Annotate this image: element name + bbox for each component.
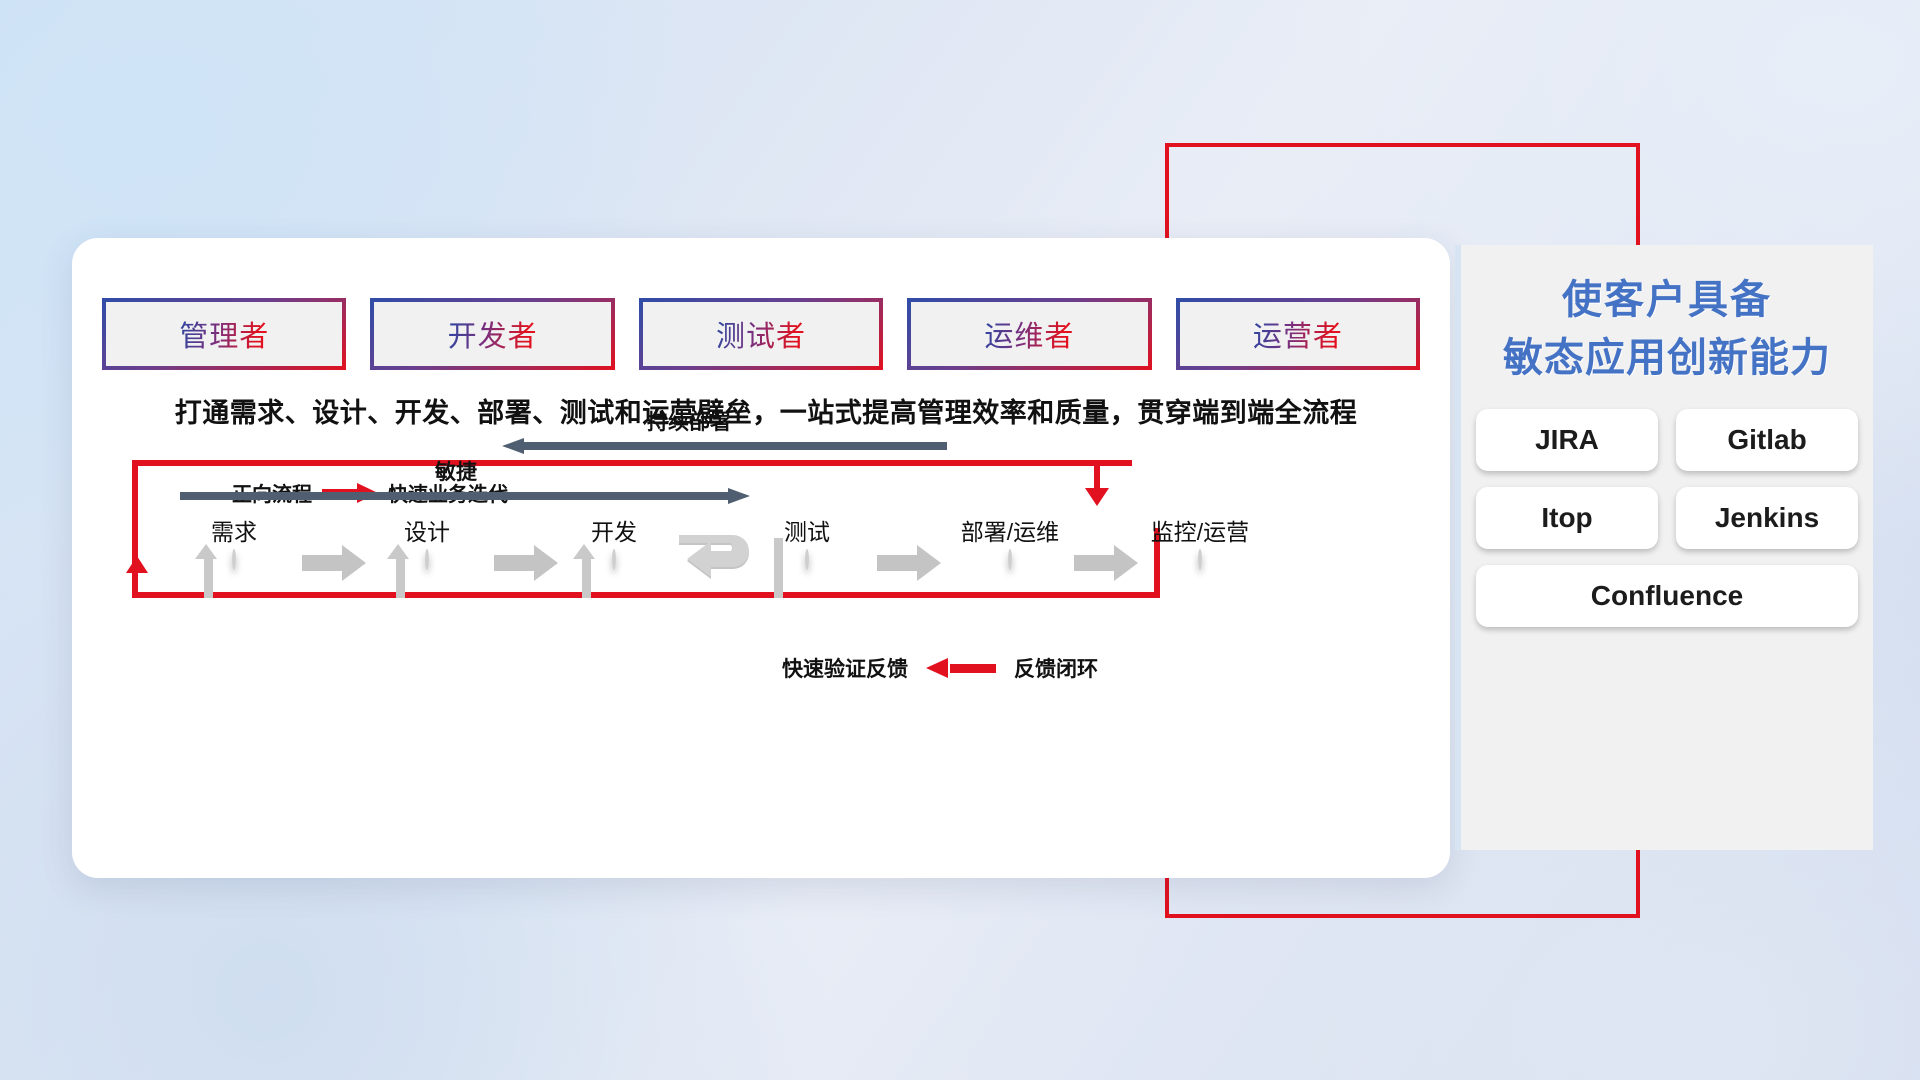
stage-node-requirement[interactable]: 需求 (174, 513, 294, 569)
devops-overview-card: 管理者 开发者 测试者 运维者 运营者 打通需求、设计、开发、部署、测试和运营壁… (72, 238, 1450, 878)
stage-label: 部署/运维 (930, 513, 1090, 547)
tool-chip-jira[interactable]: JIRA (1476, 409, 1658, 471)
stage-node-monitor-operations[interactable]: 监控/运营 (1120, 513, 1280, 569)
stage-label: 开发 (554, 513, 674, 547)
tool-chip-label: JIRA (1535, 424, 1599, 456)
tool-chip-gitlab[interactable]: Gitlab (1676, 409, 1858, 471)
tool-chip-label: Gitlab (1727, 424, 1806, 456)
tool-chip-confluence[interactable]: Confluence (1476, 565, 1858, 627)
tool-chip-label: Jenkins (1715, 502, 1819, 534)
role-box-manager[interactable]: 管理者 (102, 298, 346, 370)
loop-line-top (132, 460, 1132, 466)
role-label: 运维者 (984, 313, 1074, 355)
role-box-ops[interactable]: 运维者 (907, 298, 1151, 370)
stage-dot-icon (1198, 549, 1202, 570)
span-arrow-continuous-deployment-icon (502, 438, 947, 454)
panel-title-line2: 敏态应用创新能力 (1461, 329, 1873, 387)
panel-title: 使客户具备 敏态应用创新能力 (1461, 271, 1873, 387)
panel-title-line1: 使客户具备 (1461, 271, 1873, 329)
arrow-right-grey-icon (302, 543, 368, 583)
tool-chip-itop[interactable]: Itop (1476, 487, 1658, 549)
stage-dot-icon (805, 549, 809, 570)
role-box-tester[interactable]: 测试者 (639, 298, 883, 370)
tool-chip-jenkins[interactable]: Jenkins (1676, 487, 1858, 549)
arrow-left-red-icon (926, 658, 996, 678)
stage-dot-icon (612, 549, 616, 570)
stage-label: 需求 (174, 513, 294, 547)
role-box-developer[interactable]: 开发者 (370, 298, 614, 370)
span-arrow-agile-icon (180, 488, 750, 504)
stage-node-design[interactable]: 设计 (367, 513, 487, 569)
loop-arrow-down-icon (1085, 488, 1109, 506)
stage-label: 测试 (747, 513, 867, 547)
tool-chip-grid: JIRA Gitlab Itop Jenkins Confluence (1473, 409, 1861, 627)
role-label: 开发者 (448, 313, 538, 355)
role-label: 测试者 (716, 313, 806, 355)
arrow-right-grey-icon (494, 543, 560, 583)
tool-chip-label: Confluence (1591, 580, 1743, 612)
stage-node-test[interactable]: 测试 (747, 513, 867, 569)
slide-canvas: 管理者 开发者 测试者 运维者 运营者 打通需求、设计、开发、部署、测试和运营壁… (0, 0, 1920, 1080)
legend-feedback-target-label: 反馈闭环 (1014, 653, 1098, 683)
role-box-row: 管理者 开发者 测试者 运维者 运营者 (102, 298, 1420, 370)
span-label-continuous-deployment: 持续部署 (647, 406, 731, 436)
legend-feedback-source-label: 快速验证反馈 (782, 653, 908, 683)
stage-dot-icon (425, 549, 429, 570)
stage-label: 设计 (367, 513, 487, 547)
tagline-text: 打通需求、设计、开发、部署、测试和运营壁垒，一站式提高管理效率和质量，贯穿端到端… (106, 391, 1426, 430)
stage-node-develop[interactable]: 开发 (554, 513, 674, 569)
span-label-agile: 敏捷 (435, 456, 477, 486)
stage-dot-icon (1008, 549, 1012, 570)
tool-chip-label: Itop (1541, 502, 1592, 534)
role-label: 管理者 (179, 313, 269, 355)
stage-dot-icon (232, 549, 236, 570)
capability-panel: 使客户具备 敏态应用创新能力 JIRA Gitlab Itop Jenkins … (1455, 245, 1873, 850)
pipeline-row: 需求 设计 开发 (102, 513, 1422, 633)
stage-label: 监控/运营 (1120, 513, 1280, 547)
legend-feedback-loop: 快速验证反馈 反馈闭环 (782, 653, 1098, 683)
stage-node-deploy-ops[interactable]: 部署/运维 (930, 513, 1090, 569)
role-label: 运营者 (1253, 313, 1343, 355)
role-box-operations[interactable]: 运营者 (1176, 298, 1420, 370)
